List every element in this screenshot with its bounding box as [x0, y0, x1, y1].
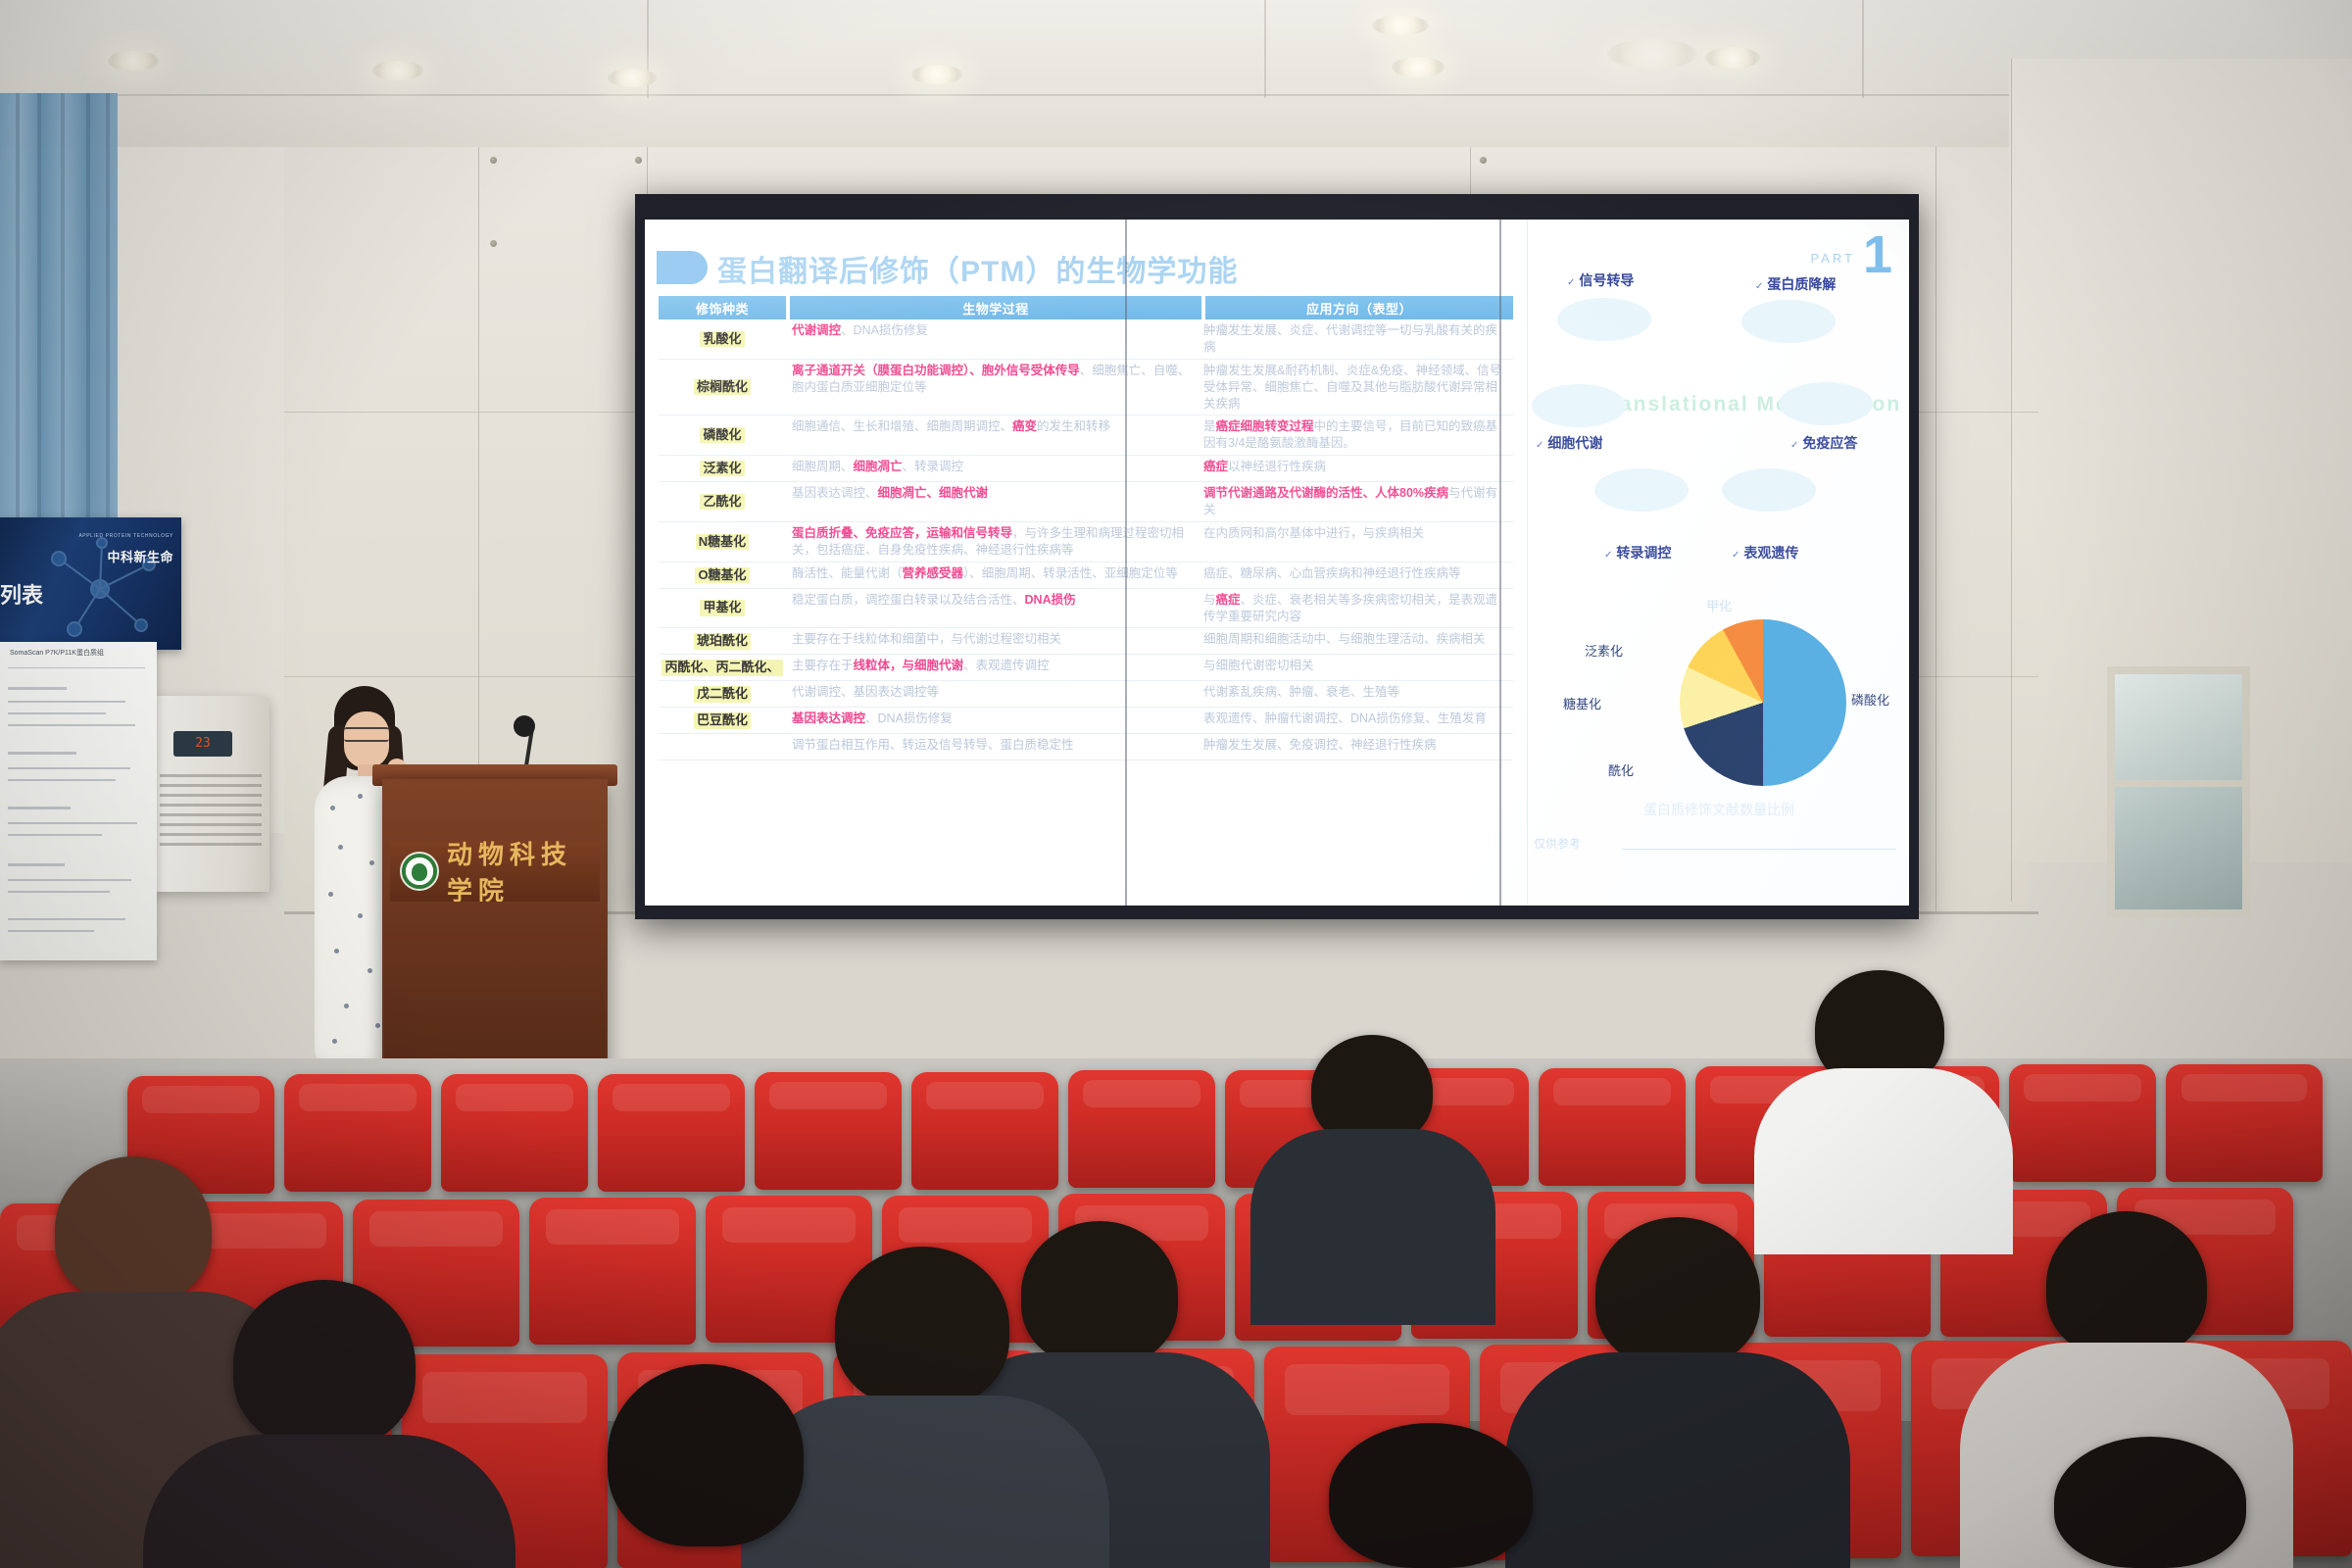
cell-kind: 磷酸化	[659, 416, 786, 455]
cell-process: 稳定蛋白质，调控蛋白转录以及结合活性、DNA损伤	[786, 589, 1198, 628]
university-emblem-icon	[400, 852, 439, 891]
table-row: 棕榈酰化 离子通道开关（膜蛋白功能调控）、胞外信号受体传导、细胞焦亡、自噬、胞内…	[659, 360, 1513, 416]
cell-kind: O糖基化	[659, 563, 786, 588]
seat[interactable]	[598, 1074, 745, 1192]
kind-label: 巴豆酰化	[694, 712, 751, 728]
process-highlight: 线粒体，与细胞代谢	[854, 659, 964, 672]
table-row: 巴豆酰化 基因表达调控、DNA损伤修复 表观遗传、肿瘤代谢调控、DNA损伤修复、…	[659, 708, 1513, 734]
ptm-table: 修饰种类 生物学过程 应用方向（表型） 乳酸化 代谢调控、DNA损伤修复 肿瘤发…	[659, 296, 1513, 760]
app-highlight: 调节代谢通路及代谢酶的活性、人体80%疾病	[1203, 486, 1448, 500]
presentation-slide: 蛋白翻译后修饰（PTM）的生物学功能 修饰种类 生物学过程 应用方向（表型） 乳…	[645, 220, 1909, 906]
lecture-hall-scene: 23 APPLIED PROTEIN TECHNOLOGY 中科新生命 列表 S…	[0, 0, 2352, 1568]
poster: SomaScan P7K/P11K蛋白质组	[0, 642, 157, 960]
cell-process: 酶活性、能量代谢（营养感受器）、细胞周期、转录活性、亚细胞定位等	[786, 563, 1198, 588]
process-text: 、DNA损伤修复	[841, 323, 928, 337]
table-header-row: 修饰种类 生物学过程 应用方向（表型）	[659, 296, 1513, 319]
app-text: 以神经退行性疾病	[1228, 460, 1326, 473]
bubble-shape	[1557, 298, 1651, 341]
slide-left-region: 蛋白翻译后修饰（PTM）的生物学功能 修饰种类 生物学过程 应用方向（表型） 乳…	[645, 220, 1527, 906]
wall-seam	[2011, 59, 2012, 902]
bubble-shape	[1741, 300, 1836, 343]
ac-display: 23	[173, 731, 232, 757]
seat[interactable]	[755, 1072, 902, 1190]
podium-sign: 动物科技学院	[390, 841, 600, 902]
audience-shoulders	[1505, 1352, 1850, 1568]
cell-application: 细胞周期和细胞活动中、与细胞生理活动、疾病相关	[1198, 628, 1513, 654]
ceiling-light-glare	[1607, 39, 1697, 69]
table-row: 泛素化 细胞周期、细胞凋亡、转录调控 癌症以神经退行性疾病	[659, 456, 1513, 482]
cell-kind: 琥珀酰化	[659, 628, 786, 654]
footer-divider	[1622, 849, 1896, 850]
kind-label: 丙酰化、丙二酰化、	[661, 660, 782, 675]
table-row: 磷酸化 细胞通信、生长和增殖、细胞周期调控、癌变的发生和转移 是癌症细胞转变过程…	[659, 416, 1513, 456]
process-tail: ）、细胞周期、转录活性、亚细胞定位等	[963, 566, 1178, 580]
app-highlight: 癌症	[1216, 593, 1241, 607]
process-tail: 的发生和转移	[1037, 419, 1110, 433]
seat[interactable]	[284, 1074, 431, 1192]
table-row: 丙酰化、丙二酰化、 主要存在于线粒体，与细胞代谢、表观遗传调控 与细胞代谢密切相…	[659, 655, 1513, 681]
pie-chart-region: 甲化 磷酸化 酰化 糖基化 泛素化 蛋白质修饰文献数量比例	[1528, 608, 1909, 813]
venue-name: 动物科技学院	[447, 835, 600, 907]
table-header-process: 生物学过程	[790, 296, 1201, 319]
process-highlight: 基因表达调控	[792, 711, 865, 725]
function-label-epigenetics: 表观遗传	[1732, 543, 1798, 563]
cell-kind: 巴豆酰化	[659, 708, 786, 733]
ceiling-seam	[0, 94, 2352, 96]
cell-kind: 甲基化	[659, 589, 786, 628]
process-highlight: 细胞凋亡	[854, 460, 903, 473]
seat[interactable]	[2166, 1064, 2323, 1182]
wall-screw	[635, 157, 642, 164]
table-row: 琥珀酰化 主要存在于线粒体和细菌中，与代谢过程密切相关 细胞周期和细胞活动中、与…	[659, 628, 1513, 655]
cell-application: 调节代谢通路及代谢酶的活性、人体80%疾病与代谢有关	[1198, 482, 1513, 521]
cell-kind	[659, 734, 786, 759]
table-header-application: 应用方向（表型）	[1205, 296, 1513, 319]
bubble-shape	[1779, 382, 1873, 425]
app-highlight: 癌症细胞转变过程	[1216, 419, 1314, 433]
ceiling-seam	[1862, 0, 1864, 98]
process-highlight: 代谢调控	[792, 323, 841, 337]
process-tail: 、转录调控	[903, 460, 964, 473]
process-text: 主要存在于	[792, 659, 854, 672]
cell-application: 癌症、糖尿病、心血管疾病和神经退行性疾病等	[1198, 563, 1513, 588]
screen-panel-seam	[1499, 220, 1501, 906]
table-row: 乳酸化 代谢调控、DNA损伤修复 肿瘤发生发展、炎症、代谢调控等一切与乳酸有关的…	[659, 319, 1513, 360]
audience-head	[233, 1280, 416, 1448]
cell-kind: 乳酸化	[659, 319, 786, 359]
audience-shoulders	[1250, 1129, 1495, 1325]
cell-application: 肿瘤发生发展、炎症、代谢调控等一切与乳酸有关的疾病	[1198, 319, 1513, 359]
banner-brand-en: APPLIED PROTEIN TECHNOLOGY	[78, 533, 173, 539]
ceiling-light	[608, 69, 657, 87]
window-glass	[2115, 674, 2242, 909]
function-label-degradation: 蛋白质降解	[1755, 274, 1836, 294]
projection-screen[interactable]: 蛋白翻译后修饰（PTM）的生物学功能 修饰种类 生物学过程 应用方向（表型） 乳…	[645, 220, 1909, 906]
audience-head	[1595, 1217, 1760, 1368]
seat[interactable]	[529, 1198, 696, 1345]
kind-label: 磷酸化	[700, 427, 744, 443]
cell-application: 代谢紊乱疾病、肿瘤、衰老、生殖等	[1198, 681, 1513, 707]
app-text: 、炎症、衰老相关等多疾病密切相关，是表观遗传学重要研究内容	[1203, 593, 1497, 623]
banner-side-text: 列表	[0, 578, 43, 610]
slide-footer-note: 仅供参考	[1534, 835, 1581, 852]
table-header-kind: 修饰种类	[659, 296, 786, 319]
table-row: 戊二酰化 代谢调控、基因表达调控等 代谢紊乱疾病、肿瘤、衰老、生殖等	[659, 681, 1513, 708]
table-row: 调节蛋白相互作用、转运及信号转导、蛋白质稳定性 肿瘤发生发展、免疫调控、神经退行…	[659, 734, 1513, 760]
cell-application: 与癌症、炎症、衰老相关等多疾病密切相关，是表观遗传学重要研究内容	[1198, 589, 1513, 628]
bubble-shape	[1532, 384, 1626, 427]
function-label-transcription: 转录调控	[1604, 543, 1671, 563]
slide-title: 蛋白翻译后修饰（PTM）的生物学功能	[717, 247, 1238, 290]
cell-application: 是癌症细胞转变过程中的主要信号，目前已知的致癌基因有3/4是酪氨酸激酶基因。	[1198, 416, 1513, 455]
audience-shoulders	[143, 1435, 515, 1568]
kind-label: 琥珀酰化	[694, 633, 751, 649]
pie-slice-label-phospho: 磷酸化	[1851, 690, 1889, 709]
process-highlight: 营养感受器	[903, 566, 964, 580]
cell-application: 肿瘤发生发展&耐药机制、炎症&免疫、神经领域、信号受体异常、细胞焦亡、自噬及其他…	[1198, 360, 1513, 416]
slide-right-region: PART 1 Post Translational Modification 信…	[1527, 220, 1909, 906]
cell-process: 代谢调控、DNA损伤修复	[786, 319, 1198, 359]
process-text: 细胞通信、生长和增殖、细胞周期调控、	[792, 419, 1012, 433]
pie-chart-caption: 蛋白质修饰文献数量比例	[1528, 800, 1909, 819]
air-conditioner[interactable]: 23	[152, 696, 269, 892]
kind-label: 戊二酰化	[694, 686, 751, 702]
bubble-shape	[1722, 468, 1816, 512]
process-text: 稳定蛋白质，调控蛋白转录以及结合活性、	[792, 593, 1025, 607]
window-mullion	[2115, 780, 2242, 787]
wall-screw	[490, 157, 497, 164]
cell-application: 癌症以神经退行性疾病	[1198, 456, 1513, 481]
cell-application: 与细胞代谢密切相关	[1198, 655, 1513, 680]
audience-head	[55, 1156, 212, 1303]
pie-top-label: 甲化	[1528, 596, 1909, 614]
title-accent-pill	[657, 251, 708, 284]
function-label-immune: 免疫应答	[1790, 433, 1857, 453]
audience-head	[608, 1364, 804, 1546]
ceiling-light	[372, 61, 423, 80]
cell-application: 在内质网和高尔基体中进行，与疾病相关	[1198, 522, 1513, 562]
glasses-icon	[344, 727, 389, 742]
cell-process: 代谢调控、基因表达调控等	[786, 681, 1198, 707]
kind-label: 甲基化	[700, 600, 744, 615]
cell-process: 主要存在于线粒体和细菌中，与代谢过程密切相关	[786, 628, 1198, 654]
pie-chart	[1680, 619, 1846, 786]
seat[interactable]	[911, 1072, 1058, 1190]
ceiling-seam	[1264, 0, 1266, 98]
kind-label: O糖基化	[695, 567, 749, 583]
cell-kind: 泛素化	[659, 456, 786, 481]
ceiling-light	[1392, 57, 1445, 77]
process-highlight: 蛋白质折叠、免疫应答，运输和信号转导	[792, 526, 1012, 540]
audience-head	[1021, 1221, 1178, 1366]
audience-head	[835, 1247, 1009, 1407]
part-label: PART	[1810, 233, 1854, 266]
wall-screw	[490, 240, 497, 247]
screen-panel-seam	[1125, 220, 1127, 906]
cell-process: 主要存在于线粒体，与细胞代谢、表观遗传调控	[786, 655, 1198, 680]
window	[2107, 666, 2250, 917]
cell-application: 肿瘤发生发展、免疫调控、神经退行性疾病	[1198, 734, 1513, 759]
table-row: 甲基化 稳定蛋白质，调控蛋白转录以及结合活性、DNA损伤 与癌症、炎症、衰老相关…	[659, 589, 1513, 629]
app-pre: 是	[1203, 419, 1216, 433]
ceiling-light	[108, 51, 159, 71]
process-text: 酶活性、能量代谢（	[792, 566, 903, 580]
kind-label: 泛素化	[700, 461, 744, 476]
app-pre: 与	[1203, 593, 1216, 607]
app-highlight: 癌症	[1203, 460, 1228, 473]
cell-process: 细胞周期、细胞凋亡、转录调控	[786, 456, 1198, 481]
cell-process: 蛋白质折叠、免疫应答，运输和信号转导，与许多生理和病理过程密切相关，包括癌症、自…	[786, 522, 1198, 562]
cell-kind: 棕榈酰化	[659, 360, 786, 416]
pie-slice-label-ubiq: 泛素化	[1585, 641, 1623, 660]
table-row: O糖基化 酶活性、能量代谢（营养感受器）、细胞周期、转录活性、亚细胞定位等 癌症…	[659, 563, 1513, 589]
bubble-shape	[1594, 468, 1689, 512]
kind-label: 乙酰化	[700, 494, 744, 510]
seat[interactable]	[1539, 1068, 1686, 1186]
process-text: 、DNA损伤修复	[865, 711, 953, 725]
banner-brand-cn: 中科新生命	[107, 547, 173, 565]
poster-line: SomaScan P7K/P11K蛋白质组	[10, 648, 104, 658]
seat[interactable]	[1068, 1070, 1215, 1188]
cell-process: 调节蛋白相互作用、转运及信号转导、蛋白质稳定性	[786, 734, 1198, 759]
wall-seam	[1935, 147, 1936, 911]
part-indicator: PART 1	[1810, 233, 1892, 278]
cell-kind: 戊二酰化	[659, 681, 786, 707]
seat[interactable]	[441, 1074, 588, 1192]
function-label-signal: 信号转导	[1567, 270, 1634, 290]
company-banner: APPLIED PROTEIN TECHNOLOGY 中科新生命 列表	[0, 517, 181, 650]
wall-screw	[1480, 157, 1487, 164]
part-number: 1	[1863, 233, 1892, 278]
pie-slice-label-acyl: 酰化	[1608, 760, 1634, 779]
kind-label: 乳酸化	[700, 331, 744, 347]
cell-process: 基因表达调控、DNA损伤修复	[786, 708, 1198, 733]
process-text: 细胞周期、	[792, 460, 854, 473]
ceiling-light	[911, 65, 962, 84]
process-highlight: 离子通道开关（膜蛋白功能调控）、胞外信号受体传导	[792, 364, 1080, 377]
ceiling-light	[1372, 16, 1429, 35]
process-tail: 、表观遗传调控	[963, 659, 1050, 672]
cell-process: 细胞通信、生长和增殖、细胞周期调控、癌变的发生和转移	[786, 416, 1198, 455]
audience-head	[1329, 1423, 1533, 1568]
process-text: 基因表达调控、	[792, 486, 878, 500]
function-label-metabolism: 细胞代谢	[1536, 433, 1602, 453]
ceiling-light	[1705, 47, 1760, 69]
microphone-icon	[514, 715, 535, 737]
cell-kind: 丙酰化、丙二酰化、	[659, 655, 786, 680]
cell-kind: N糖基化	[659, 522, 786, 562]
kind-label: N糖基化	[696, 534, 749, 550]
audience-head	[2054, 1437, 2246, 1568]
cell-kind: 乙酰化	[659, 482, 786, 521]
cell-application: 表观遗传、肿瘤代谢调控、DNA损伤修复、生殖发育	[1198, 708, 1513, 733]
kind-label: 棕榈酰化	[694, 379, 751, 395]
table-row: N糖基化 蛋白质折叠、免疫应答，运输和信号转导，与许多生理和病理过程密切相关，包…	[659, 522, 1513, 563]
process-highlight: DNA损伤	[1025, 593, 1076, 607]
process-highlight: 癌变	[1012, 419, 1037, 433]
table-row: 乙酰化 基因表达调控、细胞凋亡、细胞代谢 调节代谢通路及代谢酶的活性、人体80%…	[659, 482, 1513, 522]
audience-head	[2046, 1211, 2207, 1358]
cell-process: 离子通道开关（膜蛋白功能调控）、胞外信号受体传导、细胞焦亡、自噬、胞内蛋白质亚细…	[786, 360, 1198, 416]
seat[interactable]	[2009, 1064, 2156, 1182]
pie-slice-label-glyco: 糖基化	[1563, 694, 1601, 712]
audience-shoulders	[1754, 1068, 2013, 1254]
process-highlight: 细胞凋亡、细胞代谢	[878, 486, 989, 500]
cell-process: 基因表达调控、细胞凋亡、细胞代谢	[786, 482, 1198, 521]
window-curtain	[0, 93, 118, 563]
